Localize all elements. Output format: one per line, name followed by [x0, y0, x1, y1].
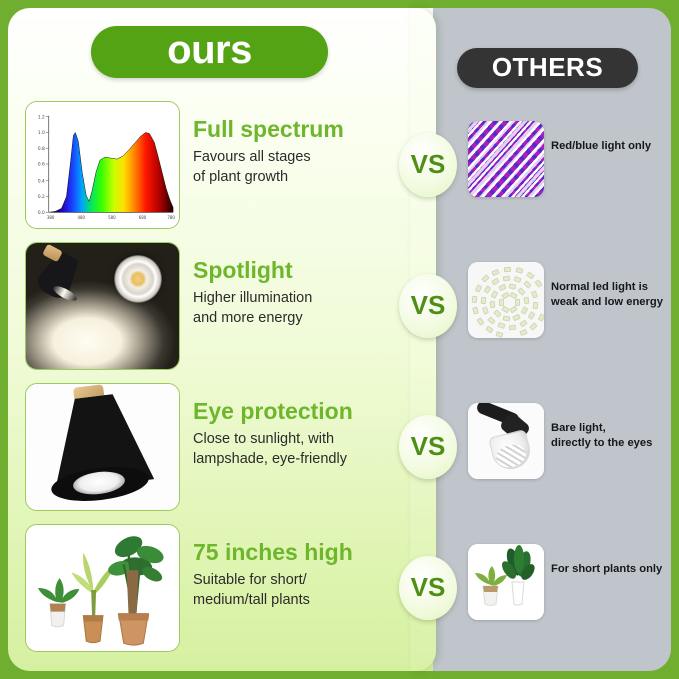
ours-badge: ours: [91, 26, 328, 78]
led-chip-icon: [474, 284, 482, 292]
led-chip-icon: [493, 309, 501, 318]
led-chip-icon: [497, 322, 505, 329]
led-chip-icon: [530, 290, 537, 298]
led-chip-icon: [515, 299, 520, 306]
bare-bulb-thumbnail: [468, 403, 544, 479]
comparison-row: 0.0 0.2 0.4 0.6 0.8 1.0 1.2 380 480 580 …: [0, 95, 679, 235]
svg-text:0.4: 0.4: [38, 178, 45, 184]
others-badge: OTHERS: [457, 48, 638, 88]
led-chip-icon: [481, 296, 487, 303]
feature-headline: 75 inches high: [193, 540, 408, 565]
led-bulb-face-icon: [114, 255, 162, 303]
svg-text:680: 680: [139, 215, 147, 220]
others-caption: Bare light, directly to the eyes: [551, 421, 677, 450]
led-chip-icon: [498, 284, 506, 291]
feature-subtext: Close to sunlight, with lampshade, eye-f…: [193, 430, 408, 469]
vs-badge: VS: [399, 133, 457, 197]
led-chip-icon: [503, 267, 510, 272]
svg-text:580: 580: [108, 215, 116, 220]
led-chip-icon: [485, 325, 494, 333]
svg-text:1.2: 1.2: [38, 114, 45, 120]
lampshade-scene: [26, 384, 179, 510]
led-chip-icon: [520, 329, 528, 336]
led-chip-icon: [509, 324, 517, 330]
medium-palm-icon: [71, 553, 114, 643]
svg-text:380: 380: [47, 215, 55, 220]
short-plants-thumbnail: [468, 544, 544, 620]
infographic-root: ours OTHERS: [0, 0, 679, 679]
others-caption: For short plants only: [551, 562, 677, 577]
led-chip-icon: [501, 305, 510, 313]
comparison-row: 75 inches high Suitable for short/ mediu…: [0, 518, 679, 658]
white-led-panel-thumbnail: [468, 262, 544, 338]
feature-subtext: Favours all stages of plant growth: [193, 148, 408, 187]
led-chip-icon: [528, 311, 536, 320]
vs-label: VS: [411, 433, 446, 461]
ours-badge-label: ours: [167, 30, 252, 74]
lampshade-photo-thumbnail: [25, 383, 180, 511]
led-chip-icon: [472, 307, 479, 315]
led-chip-icon: [526, 272, 535, 280]
comparison-row: Spotlight Higher illumination and more e…: [0, 236, 679, 376]
led-chip-icon: [491, 268, 499, 275]
svg-text:780: 780: [167, 215, 175, 220]
comparison-row: Eye protection Close to sunlight, with l…: [0, 377, 679, 517]
feature-headline: Eye protection: [193, 399, 408, 424]
led-chip-icon: [487, 316, 496, 324]
purple-led-grid-icon: [468, 121, 544, 197]
purple-led-panel-thumbnail: [468, 121, 544, 197]
vs-badge: VS: [399, 274, 457, 338]
feature-subtext: Suitable for short/ medium/tall plants: [193, 571, 408, 610]
led-chip-icon: [533, 301, 539, 308]
tall-plants-thumbnail: [25, 524, 180, 652]
spectrum-chart: 0.0 0.2 0.4 0.6 0.8 1.0 1.2 380 480 580 …: [26, 102, 179, 228]
led-chip-icon: [521, 306, 529, 315]
spotlight-beam-glow: [26, 243, 179, 369]
led-chip-icon: [496, 331, 504, 338]
led-chip-icon: [513, 313, 521, 320]
svg-text:0.2: 0.2: [38, 194, 45, 200]
three-plants-illustration: [26, 525, 179, 651]
led-chip-icon: [503, 275, 511, 281]
svg-text:480: 480: [78, 215, 86, 220]
led-chip-icon: [523, 281, 532, 289]
spotlight-photo-thumbnail: [25, 242, 180, 370]
vs-badge: VS: [399, 556, 457, 620]
led-chip-icon: [491, 291, 499, 300]
svg-text:0.0: 0.0: [38, 210, 45, 216]
led-chip-icon: [499, 299, 504, 306]
spectrum-curve: [50, 133, 173, 213]
led-chip-icon: [519, 319, 528, 327]
svg-text:0.6: 0.6: [38, 162, 45, 168]
white-led-chip-grid-icon: [468, 262, 544, 338]
feature-subtext: Higher illumination and more energy: [193, 289, 408, 328]
vs-label: VS: [411, 292, 446, 320]
led-chip-icon: [523, 297, 529, 305]
feature-text: 75 inches high Suitable for short/ mediu…: [193, 540, 408, 610]
feature-text: Spotlight Higher illumination and more e…: [193, 258, 408, 328]
others-caption: Normal led light is weak and low energy: [551, 280, 677, 309]
feature-text: Full spectrum Favours all stages of plan…: [193, 117, 408, 187]
two-short-plants-illustration: [468, 544, 544, 620]
feature-headline: Spotlight: [193, 258, 408, 283]
short-plant-left-icon: [475, 566, 507, 606]
vs-badge: VS: [399, 415, 457, 479]
full-spectrum-chart-thumbnail: 0.0 0.2 0.4 0.6 0.8 1.0 1.2 380 480 580 …: [25, 101, 180, 229]
led-chip-icon: [483, 285, 491, 294]
led-chip-icon: [518, 287, 526, 296]
others-caption: Red/blue light only: [551, 139, 677, 154]
led-chip-icon: [476, 317, 484, 326]
short-plant-right-icon: [499, 545, 537, 605]
vs-label: VS: [411, 574, 446, 602]
spectrum-chart-svg: 0.0 0.2 0.4 0.6 0.8 1.0 1.2 380 480 580 …: [26, 102, 179, 228]
led-chip-icon: [491, 278, 500, 286]
others-badge-label: OTHERS: [492, 54, 603, 82]
tall-plant-icon: [107, 532, 166, 645]
svg-text:1.0: 1.0: [38, 130, 45, 136]
spotlight-scene: [26, 243, 179, 369]
led-chip-icon: [537, 313, 544, 321]
led-chip-icon: [481, 307, 488, 315]
led-chip-icon: [472, 295, 478, 302]
led-chip-icon: [509, 283, 517, 289]
led-chip-icon: [515, 267, 523, 274]
led-chip-icon: [534, 280, 542, 289]
led-chip-icon: [530, 322, 539, 330]
small-plant-icon: [38, 578, 79, 627]
led-chip-icon: [502, 315, 510, 321]
led-chip-icon: [481, 274, 490, 282]
feature-text: Eye protection Close to sunlight, with l…: [193, 399, 408, 469]
vs-label: VS: [411, 151, 446, 179]
led-chip-icon: [514, 276, 522, 283]
led-chip-icon: [490, 301, 496, 309]
feature-headline: Full spectrum: [193, 117, 408, 142]
svg-text:0.8: 0.8: [38, 146, 45, 152]
led-chip-icon: [509, 305, 518, 313]
